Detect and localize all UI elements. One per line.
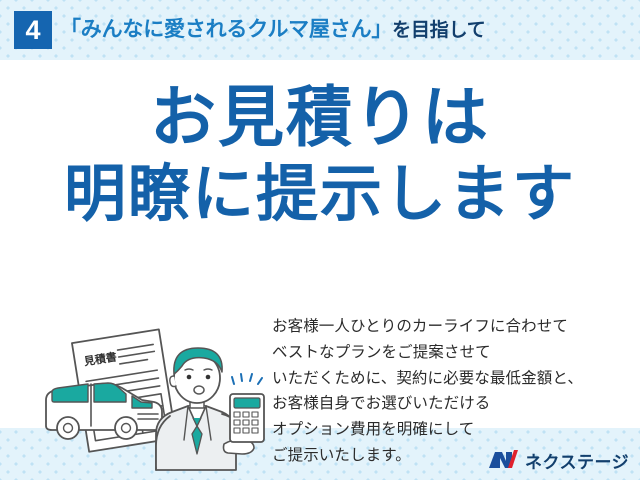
- illustration-svg: 見積書: [38, 322, 278, 472]
- body-copy-line: お客様一人ひとりのカーライフに合わせて: [272, 314, 583, 340]
- body-copy-line: お客様自身でお選びいただける: [272, 391, 583, 417]
- headline-block: お見積りは 明瞭に提示します: [0, 82, 640, 228]
- headline-line-1: お見積りは: [0, 82, 640, 153]
- calculator-icon: [230, 374, 264, 442]
- body-copy-line: オプション費用を明確にして: [272, 417, 583, 443]
- nextage-n-mark-icon: [488, 449, 518, 471]
- section-number-badge: 4: [14, 11, 52, 49]
- body-copy-line: ベストなプランをご提案させて: [272, 340, 583, 366]
- body-copy-line: いただくために、契約に必要な最低金額と、: [272, 366, 583, 392]
- brand-logo-text: ネクステージ: [525, 448, 629, 473]
- header-title-quoted: 「みんなに愛されるクルマ屋さん」: [60, 18, 392, 41]
- illustration: 見積書: [38, 322, 278, 472]
- headline-line-2: 明瞭に提示します: [0, 161, 640, 228]
- promotional-banner: 4 「みんなに愛されるクルマ屋さん」を目指して お見積りは 明瞭に提示します お…: [0, 0, 640, 480]
- content-card: お見積りは 明瞭に提示します お客様一人ひとりのカーライフに合わせて ベストなプ…: [0, 60, 640, 428]
- header-title: 「みんなに愛されるクルマ屋さん」を目指して: [60, 13, 486, 48]
- section-number-label: 4: [25, 17, 40, 44]
- header-band: 4 「みんなに愛されるクルマ屋さん」を目指して: [0, 0, 640, 60]
- sparkle-icon: [232, 374, 262, 384]
- header-title-suffix: を目指して: [392, 20, 485, 41]
- brand-logo: ネクステージ: [488, 446, 629, 474]
